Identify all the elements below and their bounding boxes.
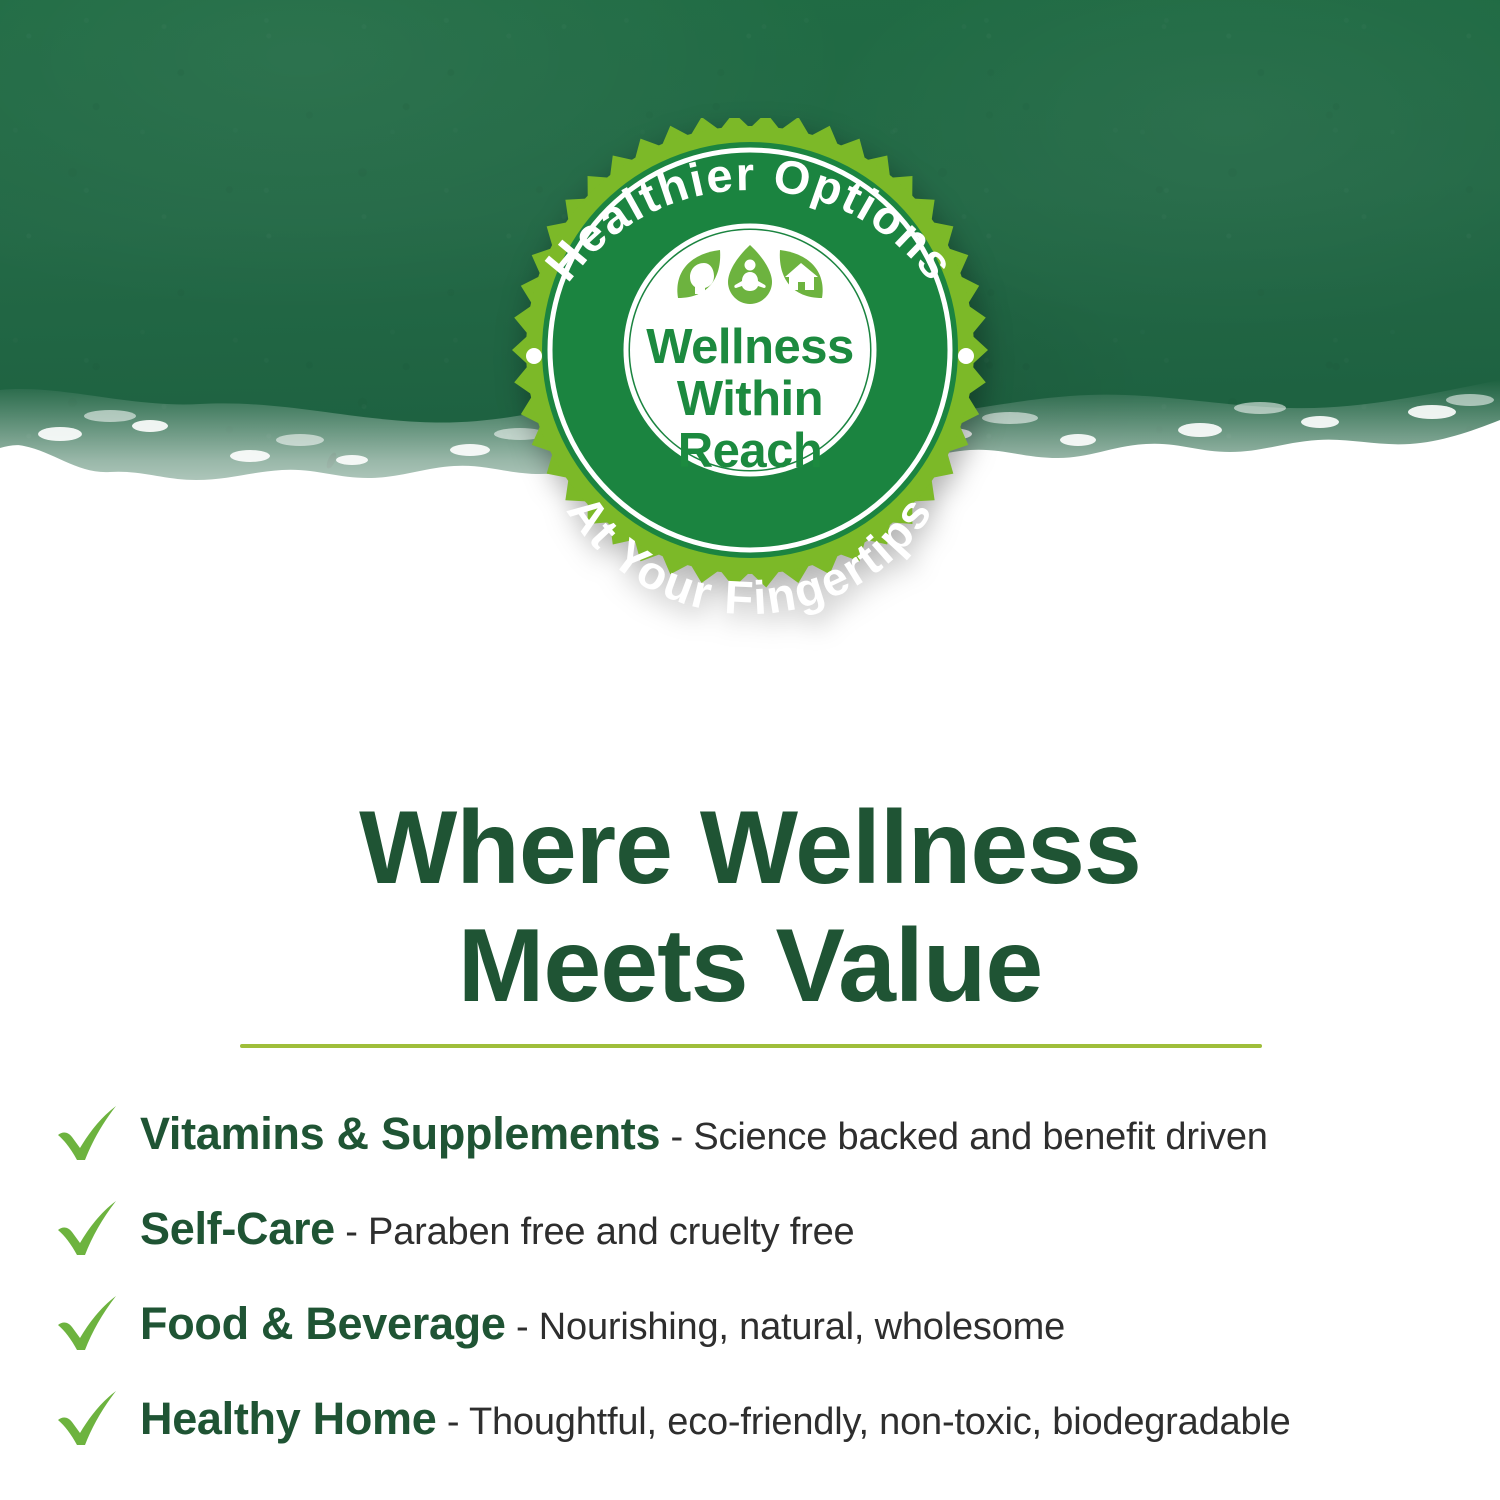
badge-white-center-disc	[630, 230, 870, 470]
list-item: Food & Beverage - Nourishing, natural, w…	[50, 1276, 1470, 1371]
benefit-description: - Science backed and benefit driven	[660, 1116, 1268, 1158]
list-item: Vitamins & Supplements - Science backed …	[50, 1086, 1470, 1181]
page-title: Where Wellness Meets Value	[0, 790, 1500, 1025]
benefit-description: - Thoughtful, eco-friendly, non-toxic, b…	[436, 1401, 1290, 1443]
page-title-line-1: Where Wellness	[0, 790, 1500, 908]
checkmark-icon	[50, 1294, 140, 1354]
benefit-description: - Paraben free and cruelty free	[335, 1211, 855, 1253]
benefit-text: Vitamins & Supplements - Science backed …	[140, 1108, 1268, 1160]
benefit-text: Self-Care - Paraben free and cruelty fre…	[140, 1203, 854, 1255]
benefit-label: Food & Beverage	[140, 1298, 506, 1349]
checkmark-icon	[50, 1104, 140, 1164]
checkmark-icon	[50, 1199, 140, 1259]
benefit-label: Vitamins & Supplements	[140, 1108, 660, 1159]
list-item: Healthy Home - Thoughtful, eco-friendly,…	[50, 1371, 1470, 1466]
benefit-description: - Nourishing, natural, wholesome	[506, 1306, 1065, 1348]
section-divider	[240, 1044, 1262, 1048]
badge-separator-dot-left	[526, 348, 542, 364]
badge-svg: Healthier Options At Your Fingertips	[462, 118, 1038, 678]
benefit-list: Vitamins & Supplements - Science backed …	[50, 1086, 1470, 1466]
list-item: Self-Care - Paraben free and cruelty fre…	[50, 1181, 1470, 1276]
checkmark-icon	[50, 1389, 140, 1449]
page-title-line-2: Meets Value	[0, 908, 1500, 1026]
benefit-text: Healthy Home - Thoughtful, eco-friendly,…	[140, 1393, 1291, 1445]
benefit-text: Food & Beverage - Nourishing, natural, w…	[140, 1298, 1065, 1350]
badge-separator-dot-right	[958, 348, 974, 364]
wellness-badge-seal: Healthier Options At Your Fingertips	[462, 118, 1038, 678]
benefit-label: Self-Care	[140, 1203, 335, 1254]
benefit-label: Healthy Home	[140, 1393, 436, 1444]
